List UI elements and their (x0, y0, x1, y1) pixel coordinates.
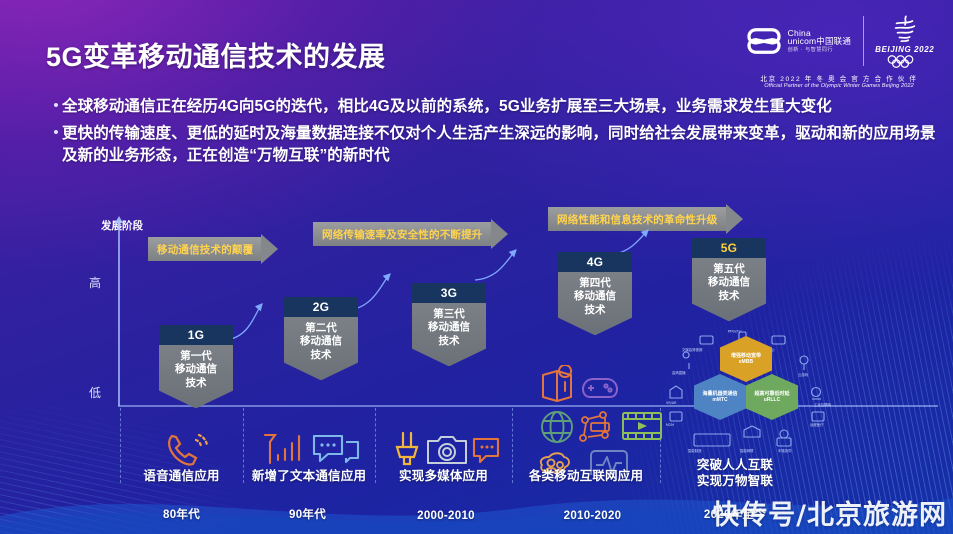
generation-name-line3: 技术 (560, 304, 630, 317)
partner-logo-bar: China unicom中国联通 创新 · 与智慧同行 (735, 12, 943, 98)
unicom-label-cn: 中国联通 (816, 36, 851, 46)
generation-body: 第三代 移动通信 技术 (412, 303, 486, 366)
bulb-camera-chat-icons (390, 427, 502, 471)
generation-tag: 1G (159, 325, 233, 345)
bullet-list: • 全球移动通信正在经历4G向5G的迭代，相比4G及以前的系统，5G业务扩展至三… (50, 96, 940, 172)
app-label-3g: 实现多媒体应用 (375, 468, 512, 484)
generation-body: 第一代 移动通信 技术 (159, 345, 233, 408)
timeline-label-2010s: 2010-2020 (540, 510, 645, 522)
svg-text:VR/AR: VR/AR (666, 401, 677, 405)
unicom-tagline: 创新 · 与智慧同行 (788, 48, 851, 53)
svg-text:工业互联网: 工业互联网 (814, 402, 832, 407)
bullet-item: • 更快的传输速度、更低的延时及海量数据连接不仅对个人生活产生深远的影响，同时给… (50, 123, 940, 167)
olympic-rings-icon (886, 55, 924, 68)
svg-text:移动办公: 移动办公 (728, 330, 742, 333)
partner-caption-en: Official Partner of the Olympic Winter G… (735, 83, 943, 89)
bullet-item: • 全球移动通信正在经历4G向5G的迭代，相比4G及以前的系统，5G业务扩展至三… (50, 96, 940, 118)
page-title: 5G变革移动通信技术的发展 (46, 35, 386, 74)
generation-card-1g[interactable]: 1G 第一代 移动通信 技术 (159, 325, 233, 408)
svg-text:智能制造: 智能制造 (688, 448, 702, 453)
unicom-knot-icon (744, 21, 784, 61)
generation-name-line1: 第五代 (694, 263, 764, 276)
mobile-internet-icons (535, 365, 665, 475)
y-axis-tick-high: 高 (89, 274, 101, 291)
generation-name-line3: 技术 (694, 290, 764, 303)
signal-and-chat-icons (258, 427, 366, 471)
generation-body: 第五代 移动通信 技术 (692, 258, 766, 321)
generation-name-line2: 移动通信 (286, 335, 356, 348)
stage-arrow-3-label: 网络性能和信息技术的革命性升级 (557, 212, 718, 227)
watermark: 快传号/北京旅游网 (712, 493, 947, 532)
app-label-4g: 各类移动互联网应用 (512, 468, 660, 484)
timeline-label-90s: 90年代 (265, 506, 350, 522)
stage-arrow-2: 网络传输速率及安全性的不断提升 (313, 222, 508, 246)
beijing-2022-emblem-icon (890, 14, 920, 44)
svg-text:云游戏: 云游戏 (798, 372, 809, 377)
generation-tag-label: 1G (188, 328, 205, 342)
app-label-5g-line1: 突破人人互联 (660, 457, 810, 473)
generation-tag-label: 4G (587, 255, 604, 269)
generation-card-2g[interactable]: 2G 第二代 移动通信 技术 (284, 297, 358, 380)
generation-name-line2: 移动通信 (694, 276, 764, 289)
generation-card-3g[interactable]: 3G 第三代 移动通信 技术 (412, 283, 486, 366)
timeline-label-2000s: 2000-2010 (396, 510, 496, 522)
generation-name-line3: 技术 (161, 377, 231, 390)
generation-name-line1: 第三代 (414, 308, 484, 321)
app-label-5g-line2: 实现万物智联 (660, 473, 810, 489)
bullet-dot-icon: • (50, 123, 62, 143)
app-label-2g: 新增了文本通信应用 (243, 468, 375, 484)
y-axis-line (118, 222, 120, 406)
generation-tag: 2G (284, 297, 358, 317)
generation-name-line3: 技术 (414, 335, 484, 348)
generation-body: 第四代 移动通信 技术 (558, 272, 632, 335)
generation-name-line1: 第二代 (286, 322, 356, 335)
app-label-5g: 突破人人互联 实现万物智联 (660, 457, 810, 490)
beijing-2022-logo: BEIJING 2022 (864, 14, 934, 68)
generation-name-line1: 第一代 (161, 350, 231, 363)
5g-ecosystem-diagram: 文娱高清视频 移动办公 办公 高清直播 云游戏 VR/AR 工业互联网 M2M … (664, 330, 840, 458)
generation-name-line2: 移动通信 (161, 363, 231, 376)
hexagon-mmtc-en: mMTC (702, 397, 737, 403)
partner-caption: 北京 2022 年 冬 奥 会 官 方 合 作 伙 伴 Official Par… (735, 73, 943, 89)
svg-text:智能网联: 智能网联 (740, 448, 754, 453)
app-label-1g: 语音通信应用 (120, 468, 243, 484)
stage-arrow-3: 网络性能和信息技术的革命性升级 (548, 207, 743, 231)
hexagon-embb-en: eMBB (731, 359, 761, 365)
svg-text:文娱高清视频: 文娱高清视频 (682, 347, 703, 352)
svg-text:M2M: M2M (666, 423, 674, 427)
phone-call-icon (163, 427, 215, 471)
generation-tag-label: 5G (721, 241, 738, 255)
generation-tag: 3G (412, 283, 486, 303)
generation-name-line2: 移动通信 (560, 290, 630, 303)
partner-caption-cn: 北京 2022 年 冬 奥 会 官 方 合 作 伙 伴 (735, 73, 943, 83)
generation-tag-label: 3G (441, 286, 458, 300)
generation-tag: 5G (692, 238, 766, 258)
generation-name-line2: 移动通信 (414, 321, 484, 334)
stage-arrow-2-label: 网络传输速率及安全性的不断提升 (322, 227, 483, 242)
bullet-text: 全球移动通信正在经历4G向5G的迭代，相比4G及以前的系统，5G业务扩展至三大场… (62, 96, 832, 118)
timeline-label-80s: 80年代 (139, 506, 224, 522)
generation-name-line1: 第四代 (560, 277, 630, 290)
generation-body: 第二代 移动通信 技术 (284, 317, 358, 380)
unicom-label-unicom: unicom (788, 36, 817, 46)
generation-tag-label: 2G (313, 300, 330, 314)
svg-text:高清直播: 高清直播 (672, 370, 686, 375)
generation-card-5g[interactable]: 5G 第五代 移动通信 技术 (692, 238, 766, 321)
stage-arrow-1: 移动通信技术的颠覆 (148, 237, 278, 261)
china-unicom-logo: China unicom中国联通 创新 · 与智慧同行 (744, 21, 863, 61)
svg-text:远程医疗: 远程医疗 (810, 422, 824, 427)
generation-tag: 4G (558, 252, 632, 272)
y-axis-tick-low: 低 (89, 384, 101, 401)
bullet-dot-icon: • (50, 96, 62, 116)
stage-arrow-1-label: 移动通信技术的颠覆 (157, 242, 253, 257)
generation-card-4g[interactable]: 4G 第四代 移动通信 技术 (558, 252, 632, 335)
app-icons-4g (535, 365, 665, 480)
svg-text:车路协同: 车路协同 (778, 448, 792, 453)
generation-name-line3: 技术 (286, 349, 356, 362)
hexagon-urllc-en: uRLLC (754, 397, 789, 403)
slide-canvas: 5G变革移动通信技术的发展 China unicom中国联通 (0, 0, 953, 534)
bullet-text: 更快的传输速度、更低的延时及海量数据连接不仅对个人生活产生深远的影响，同时给社会… (62, 123, 940, 167)
beijing-2022-wordmark: BEIJING 2022 (875, 45, 934, 54)
